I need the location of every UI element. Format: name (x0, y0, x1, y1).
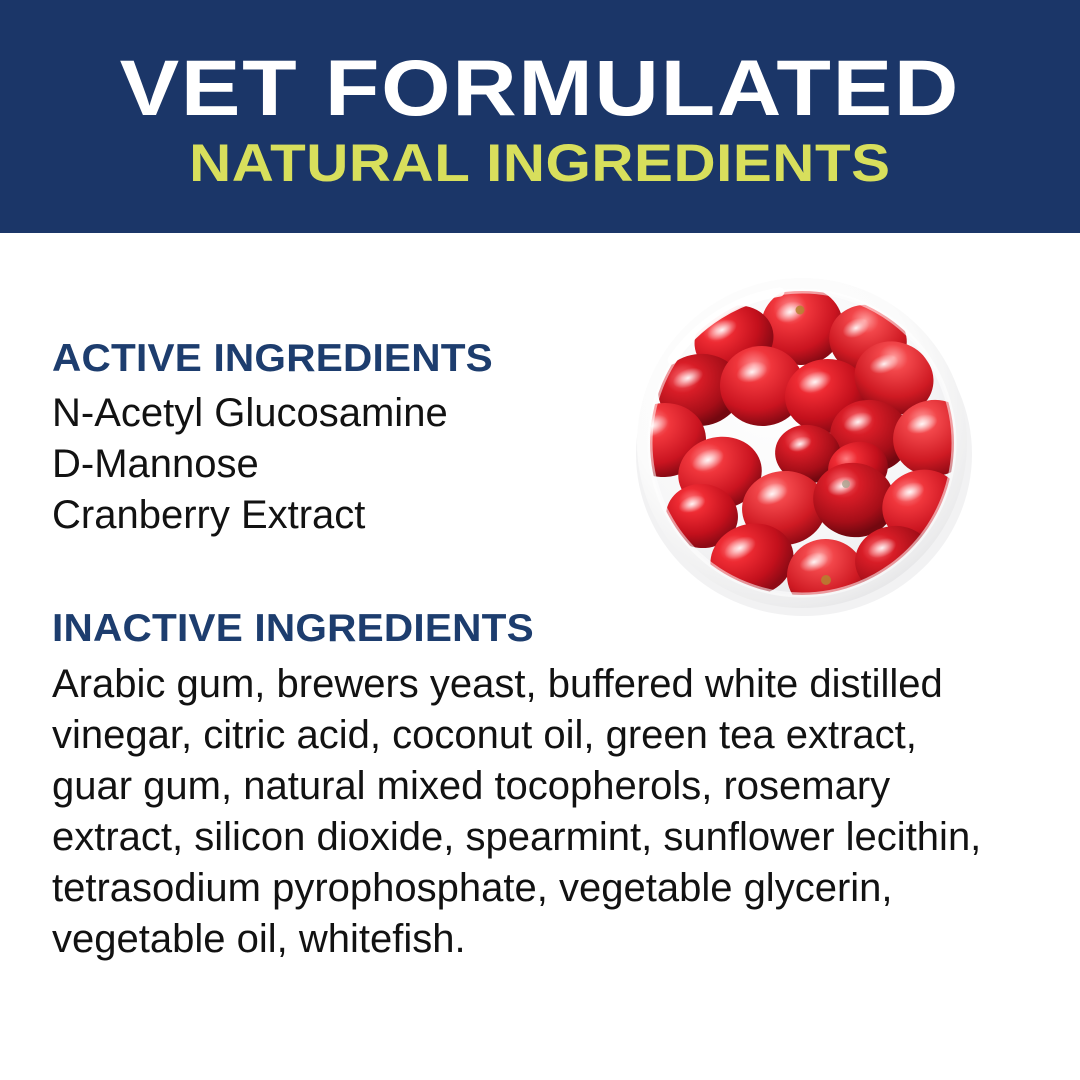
inactive-ingredients-heading: INACTIVE INGREDIENTS (52, 608, 1050, 650)
ingredients-poster: VET FORMULATED NATURAL INGREDIENTS (0, 0, 1080, 1080)
banner-subtitle: NATURAL INGREDIENTS (189, 137, 890, 190)
inactive-ingredients-text: Arabic gum, brewers yeast, buffered whit… (52, 659, 1002, 965)
banner-title: VET FORMULATED (120, 49, 960, 126)
active-ingredient-item: N-Acetyl Glucosamine (52, 388, 612, 439)
active-ingredients-heading: ACTIVE INGREDIENTS (52, 338, 634, 380)
active-ingredient-item: Cranberry Extract (52, 490, 612, 541)
active-ingredients-section: ACTIVE INGREDIENTS N-Acetyl Glucosamine … (52, 338, 612, 541)
header-banner: VET FORMULATED NATURAL INGREDIENTS (0, 0, 1080, 233)
inactive-ingredients-section: INACTIVE INGREDIENTS Arabic gum, brewers… (52, 608, 1012, 965)
active-ingredient-item: D-Mannose (52, 439, 612, 490)
cranberry-bowl-photo (612, 268, 992, 618)
